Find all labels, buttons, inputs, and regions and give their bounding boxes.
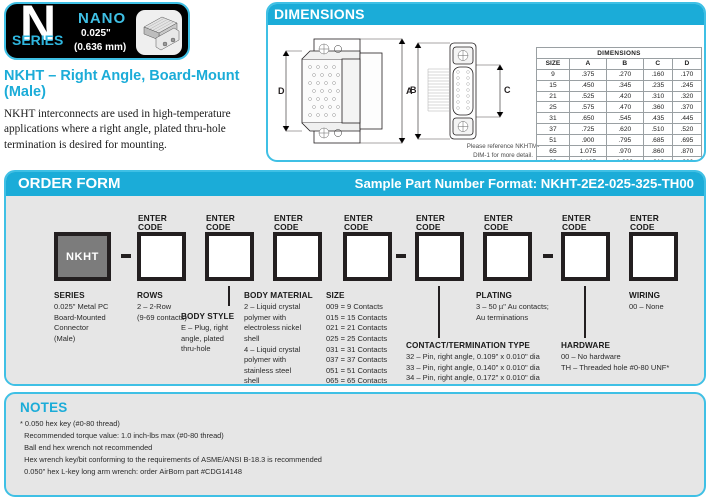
- enter-code-label-wiring: ENTER CODE: [630, 214, 659, 233]
- dimensions-column-header: A: [569, 58, 606, 69]
- label-body-rows: 2 – 2-Row (9-69 contacts): [137, 302, 187, 323]
- dimensions-cell: 69: [537, 156, 570, 162]
- label-title-hardware: HARDWARE: [561, 341, 610, 350]
- note-item: Ball end hex wrench not recommended: [20, 442, 704, 454]
- table-row: 651.075.970.860.870: [537, 146, 702, 157]
- datasheet-page: N SERIES NANO 0.025" (0.636 mm): [0, 0, 709, 501]
- code-box-rows[interactable]: [137, 232, 186, 281]
- dimensions-cell: .170: [672, 69, 701, 80]
- code-box-plating[interactable]: [483, 232, 532, 281]
- dimensions-cell: 31: [537, 113, 570, 124]
- label-title-contact-termination: CONTACT/TERMINATION TYPE: [406, 341, 530, 350]
- dimensions-cell: .695: [672, 135, 701, 146]
- code-box-hardware[interactable]: [561, 232, 610, 281]
- dimensions-cell: .650: [569, 113, 606, 124]
- dimensions-column-header: D: [672, 58, 701, 69]
- separator-dash-3: [543, 254, 553, 258]
- table-row: 691.1251.020.910.920: [537, 156, 702, 162]
- dimensions-cell: 15: [537, 80, 570, 91]
- connector-photo-icon: [136, 10, 182, 55]
- dimensions-cell: .470: [606, 102, 643, 113]
- label-body-plating: 3 – 50 µ" Au contacts; Au terminations: [476, 302, 549, 323]
- separator-dash-2: [396, 254, 406, 258]
- label-title-plating: PLATING: [476, 291, 512, 300]
- dimensions-cell: .545: [606, 113, 643, 124]
- dimensions-cell: .685: [643, 135, 672, 146]
- series-word: SERIES: [12, 32, 63, 48]
- dimensions-header: DIMENSIONS: [268, 4, 704, 25]
- dimensions-cell: .620: [606, 124, 643, 135]
- dimensions-panel: DIMENSIONS: [266, 2, 706, 162]
- dimensions-body: D A: [268, 25, 704, 162]
- dimensions-cell: .245: [672, 80, 701, 91]
- table-row: 9.375.270.160.170: [537, 69, 702, 80]
- code-box-wiring[interactable]: [629, 232, 678, 281]
- dimensions-column-header: C: [643, 58, 672, 69]
- table-row: 37.725.620.510.520: [537, 124, 702, 135]
- leader-line-body-style: [228, 286, 230, 306]
- enter-code-label-hardware: ENTER CODE: [562, 214, 591, 233]
- dimensions-cell: .920: [672, 156, 701, 162]
- dimensions-cell: .795: [606, 135, 643, 146]
- dimensions-cell: 1.125: [569, 156, 606, 162]
- dimensions-cell: 1.075: [569, 146, 606, 157]
- code-box-size[interactable]: [343, 232, 392, 281]
- dimensions-cell: .360: [643, 102, 672, 113]
- notes-title: NOTES: [20, 400, 704, 415]
- enter-code-label-body-style: ENTER CODE: [206, 214, 235, 233]
- dimensions-cell: .420: [606, 91, 643, 102]
- dimensions-cell: .270: [606, 69, 643, 80]
- enter-code-label-plating: ENTER CODE: [484, 214, 513, 233]
- label-body-series: 0.025" Metal PC Board-Mounted Connector …: [54, 302, 108, 345]
- table-row: 51.900.795.685.695: [537, 135, 702, 146]
- dimensions-cell: .510: [643, 124, 672, 135]
- dimensions-column-header: B: [606, 58, 643, 69]
- order-form-panel: ORDER FORM Sample Part Number Format: NK…: [4, 170, 706, 386]
- dimensions-cell: 1.020: [606, 156, 643, 162]
- sample-part-number: Sample Part Number Format: NKHT-2E2-025-…: [355, 176, 694, 191]
- dimensions-cell: 21: [537, 91, 570, 102]
- label-title-body-material: BODY MATERIAL: [244, 291, 313, 300]
- note-item: Hex wrench key/bit conforming to the req…: [20, 454, 704, 466]
- separator-dash-1: [121, 254, 131, 258]
- code-box-contact-termination[interactable]: [415, 232, 464, 281]
- product-summary-panel: N SERIES NANO 0.025" (0.636 mm): [4, 2, 262, 162]
- enter-code-label-body-material: ENTER CODE: [274, 214, 303, 233]
- svg-text:C: C: [504, 85, 511, 95]
- label-body-contact-termination: 32 – Pin, right angle, 0.109" x 0.010" d…: [406, 352, 540, 384]
- note-item: Recommended torque value: 1.0 inch-lbs m…: [20, 430, 704, 442]
- svg-text:D: D: [278, 86, 285, 96]
- dimensions-cell: .870: [672, 146, 701, 157]
- dimensions-cell: .375: [569, 69, 606, 80]
- notes-panel: NOTES * 0.050 hex key (#0-80 thread) Rec…: [4, 392, 706, 497]
- enter-code-label-contact: ENTER CODE: [416, 214, 445, 233]
- code-box-body-material[interactable]: [273, 232, 322, 281]
- note-item: 0.050" hex L-key long arm wrench: order …: [20, 466, 704, 478]
- page-title: NKHT – Right Angle, Board-Mount (Male): [4, 68, 262, 100]
- table-row: 15.450.345.235.245: [537, 80, 702, 91]
- dimensions-cell: 37: [537, 124, 570, 135]
- dimensions-cell: .725: [569, 124, 606, 135]
- order-form-header: ORDER FORM Sample Part Number Format: NK…: [6, 172, 704, 196]
- leader-line-hardware: [584, 286, 586, 338]
- dimensions-cell: .575: [569, 102, 606, 113]
- dimensions-cell: 25: [537, 102, 570, 113]
- dimensions-cell: .450: [569, 80, 606, 91]
- dimensions-cell: .860: [643, 146, 672, 157]
- table-row: 31.650.545.435.445: [537, 113, 702, 124]
- dimensions-table-container: DIMENSIONSSIZEABCD9.375.270.160.17015.45…: [536, 47, 702, 162]
- label-title-body-style: BODY STYLE: [181, 312, 234, 321]
- table-row: 25.575.470.360.370: [537, 102, 702, 113]
- product-description: NKHT interconnects are used in high-temp…: [4, 107, 262, 152]
- dimensions-cell: .525: [569, 91, 606, 102]
- dimensions-cell: .370: [672, 102, 701, 113]
- dimensions-table-header-row: SIZEABCD: [537, 58, 702, 69]
- order-form-title: ORDER FORM: [18, 175, 121, 192]
- enter-code-label-size: ENTER CODE: [344, 214, 373, 233]
- nano-series-badge: N SERIES NANO 0.025" (0.636 mm): [4, 2, 190, 60]
- pitch-inches: 0.025": [81, 28, 111, 39]
- dimensions-cell: .520: [672, 124, 701, 135]
- leader-line-contact-termination: [438, 286, 440, 338]
- label-body-size: 009 = 9 Contacts 015 = 15 Contacts 021 =…: [326, 302, 387, 386]
- enter-code-label-rows: ENTER CODE: [138, 214, 167, 233]
- dimensions-table-title: DIMENSIONS: [537, 48, 702, 59]
- front-view-drawing: D A: [272, 31, 422, 156]
- notes-list: * 0.050 hex key (#0-80 thread) Recommend…: [20, 418, 704, 478]
- dimensions-cell: .445: [672, 113, 701, 124]
- pitch-millimeters: (0.636 mm): [74, 42, 126, 53]
- dimensions-table: DIMENSIONSSIZEABCD9.375.270.160.17015.45…: [536, 47, 702, 162]
- series-code-box: NKHT: [54, 232, 111, 281]
- dimensions-cell: 9: [537, 69, 570, 80]
- dimensions-cell: .910: [643, 156, 672, 162]
- dimensions-cell: .235: [643, 80, 672, 91]
- dimensions-cell: .435: [643, 113, 672, 124]
- order-form-body: NKHT ENTER CODE ENTER CODE ENTER CODE EN…: [6, 196, 704, 386]
- side-view-drawing: B C: [408, 31, 518, 156]
- dimensions-column-header: SIZE: [537, 58, 570, 69]
- dimensions-cell: .160: [643, 69, 672, 80]
- dimensions-cell: .900: [569, 135, 606, 146]
- label-body-hardware: 00 – No hardware TH – Threaded hole #0-8…: [561, 352, 669, 373]
- family-name: NANO: [78, 10, 126, 27]
- label-title-wiring: WIRING: [629, 291, 660, 300]
- note-item: * 0.050 hex key (#0-80 thread): [20, 418, 704, 430]
- dimensions-cell: 65: [537, 146, 570, 157]
- dimensions-cell: 51: [537, 135, 570, 146]
- dimensions-reference-note: Please reference NKHTM-DIM-1 for more de…: [464, 143, 542, 161]
- svg-text:B: B: [410, 85, 417, 95]
- dimensions-cell: .310: [643, 91, 672, 102]
- label-body-wiring: 00 – None: [629, 302, 664, 313]
- code-box-body-style[interactable]: [205, 232, 254, 281]
- label-title-size: SIZE: [326, 291, 345, 300]
- dimensions-cell: .320: [672, 91, 701, 102]
- dimensions-cell: .970: [606, 146, 643, 157]
- label-body-body-material: 2 – Liquid crystal polymer with electrol…: [244, 302, 301, 386]
- label-title-rows: ROWS: [137, 291, 163, 300]
- label-title-series: SERIES: [54, 291, 85, 300]
- dimensions-cell: .345: [606, 80, 643, 91]
- table-row: 21.525.420.310.320: [537, 91, 702, 102]
- label-body-body-style: E – Plug, right angle, plated thru-hole: [181, 323, 228, 355]
